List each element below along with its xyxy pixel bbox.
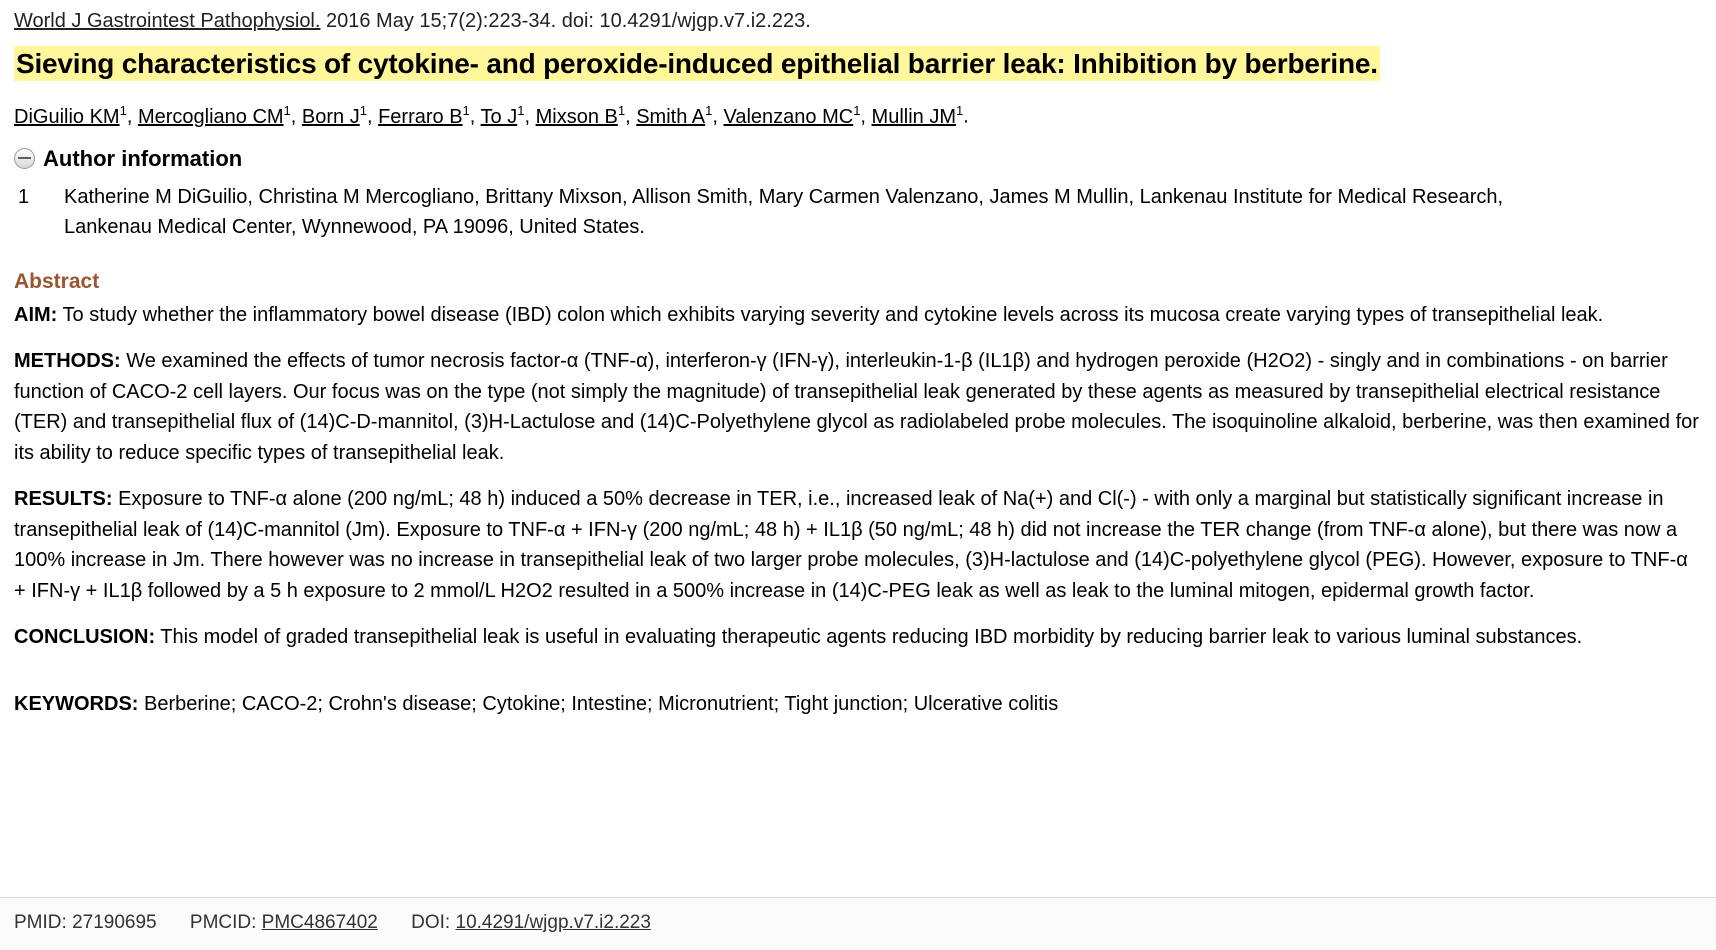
author-link[interactable]: Born J1 [302,106,367,128]
author-name: Born J [302,106,360,128]
page-title: Sieving characteristics of cytokine- and… [14,44,1702,84]
abstract-heading: Abstract [14,270,1702,294]
author-link[interactable]: Smith A1 [636,106,712,128]
author-information-header[interactable]: Author information [14,146,1702,172]
abstract-section: CONCLUSION: This model of graded transep… [14,622,1702,653]
journal-link[interactable]: World J Gastrointest Pathophysiol. [14,10,320,32]
doi-label: DOI: [411,912,450,933]
author-name: Mullin JM [872,106,956,128]
author-affiliation-marker: 1 [284,96,291,126]
author-link[interactable]: Valenzano MC1 [723,106,860,128]
author-information-label: Author information [43,146,242,172]
abstract-section-label: RESULTS: [14,488,113,510]
author-list: DiGuilio KM1, Mercogliano CM1, Born J1, … [14,96,1702,132]
author-link[interactable]: Ferraro B1 [378,106,470,128]
abstract-section: AIM: To study whether the inflammatory b… [14,300,1702,331]
author-affiliation-marker: 1 [618,96,625,126]
author-link[interactable]: DiGuilio KM1 [14,106,127,128]
abstract-section: METHODS: We examined the effects of tumo… [14,346,1702,468]
author-name: Smith A [636,106,705,128]
citation-line: World J Gastrointest Pathophysiol. 2016 … [14,8,1702,34]
abstract-page: World J Gastrointest Pathophysiol. 2016 … [0,0,1716,719]
abstract-section-label: CONCLUSION: [14,626,155,648]
pmid-label: PMID: [14,912,67,933]
doi-link[interactable]: 10.4291/wjgp.v7.i2.223 [456,912,651,933]
identifier-bar: PMID: 27190695 PMCID: PMC4867402 DOI: 10… [0,897,1716,950]
author-separator: . [963,106,969,128]
author-name: Mixson B [536,106,618,128]
citation-details: 2016 May 15;7(2):223-34. doi: 10.4291/wj… [326,10,811,32]
affiliation-row: 1 Katherine M DiGuilio, Christina M Merc… [14,182,1702,242]
author-name: To J [481,106,518,128]
author-link[interactable]: Mullin JM1 [872,106,964,128]
author-separator: , [625,106,636,128]
author-name: Mercogliano CM [138,106,284,128]
abstract-section-text: Exposure to TNF-α alone (200 ng/mL; 48 h… [14,488,1688,602]
pmcid-link[interactable]: PMC4867402 [262,912,378,933]
affiliation-text: Katherine M DiGuilio, Christina M Mercog… [64,182,1534,242]
article-title: Sieving characteristics of cytokine- and… [14,46,1380,81]
author-name: Ferraro B [378,106,462,128]
author-separator: , [367,106,378,128]
author-separator: , [291,106,302,128]
abstract-section-label: AIM: [14,304,57,326]
author-separator: , [524,106,535,128]
pmcid-label: PMCID: [190,912,257,933]
abstract-section: RESULTS: Exposure to TNF-α alone (200 ng… [14,484,1702,606]
affiliation-number: 1 [14,182,64,242]
author-separator: , [470,106,481,128]
minus-circle-icon[interactable] [14,148,35,169]
author-link[interactable]: Mercogliano CM1 [138,106,291,128]
author-separator: , [860,106,871,128]
author-separator: , [127,106,138,128]
pmid-value: 27190695 [72,912,157,933]
abstract-section-label: METHODS: [14,350,121,372]
abstract-body: AIM: To study whether the inflammatory b… [14,300,1702,653]
author-affiliation-marker: 1 [463,96,470,126]
keywords-row: KEYWORDS: Berberine; CACO-2; Crohn's dis… [14,689,1702,719]
abstract-section-text: To study whether the inflammatory bowel … [57,304,1603,326]
author-name: DiGuilio KM [14,106,120,128]
author-affiliation-marker: 1 [120,96,127,126]
author-affiliation-marker: 1 [360,96,367,126]
abstract-section-text: This model of graded transepithelial lea… [155,626,1582,648]
author-link[interactable]: To J1 [481,106,525,128]
author-link[interactable]: Mixson B1 [536,106,625,128]
author-separator: , [712,106,723,128]
keywords-label: KEYWORDS: [14,693,138,715]
abstract-section-text: We examined the effects of tumor necrosi… [14,350,1699,464]
keywords-text: Berberine; CACO-2; Crohn's disease; Cyto… [138,693,1058,715]
author-name: Valenzano MC [723,106,853,128]
